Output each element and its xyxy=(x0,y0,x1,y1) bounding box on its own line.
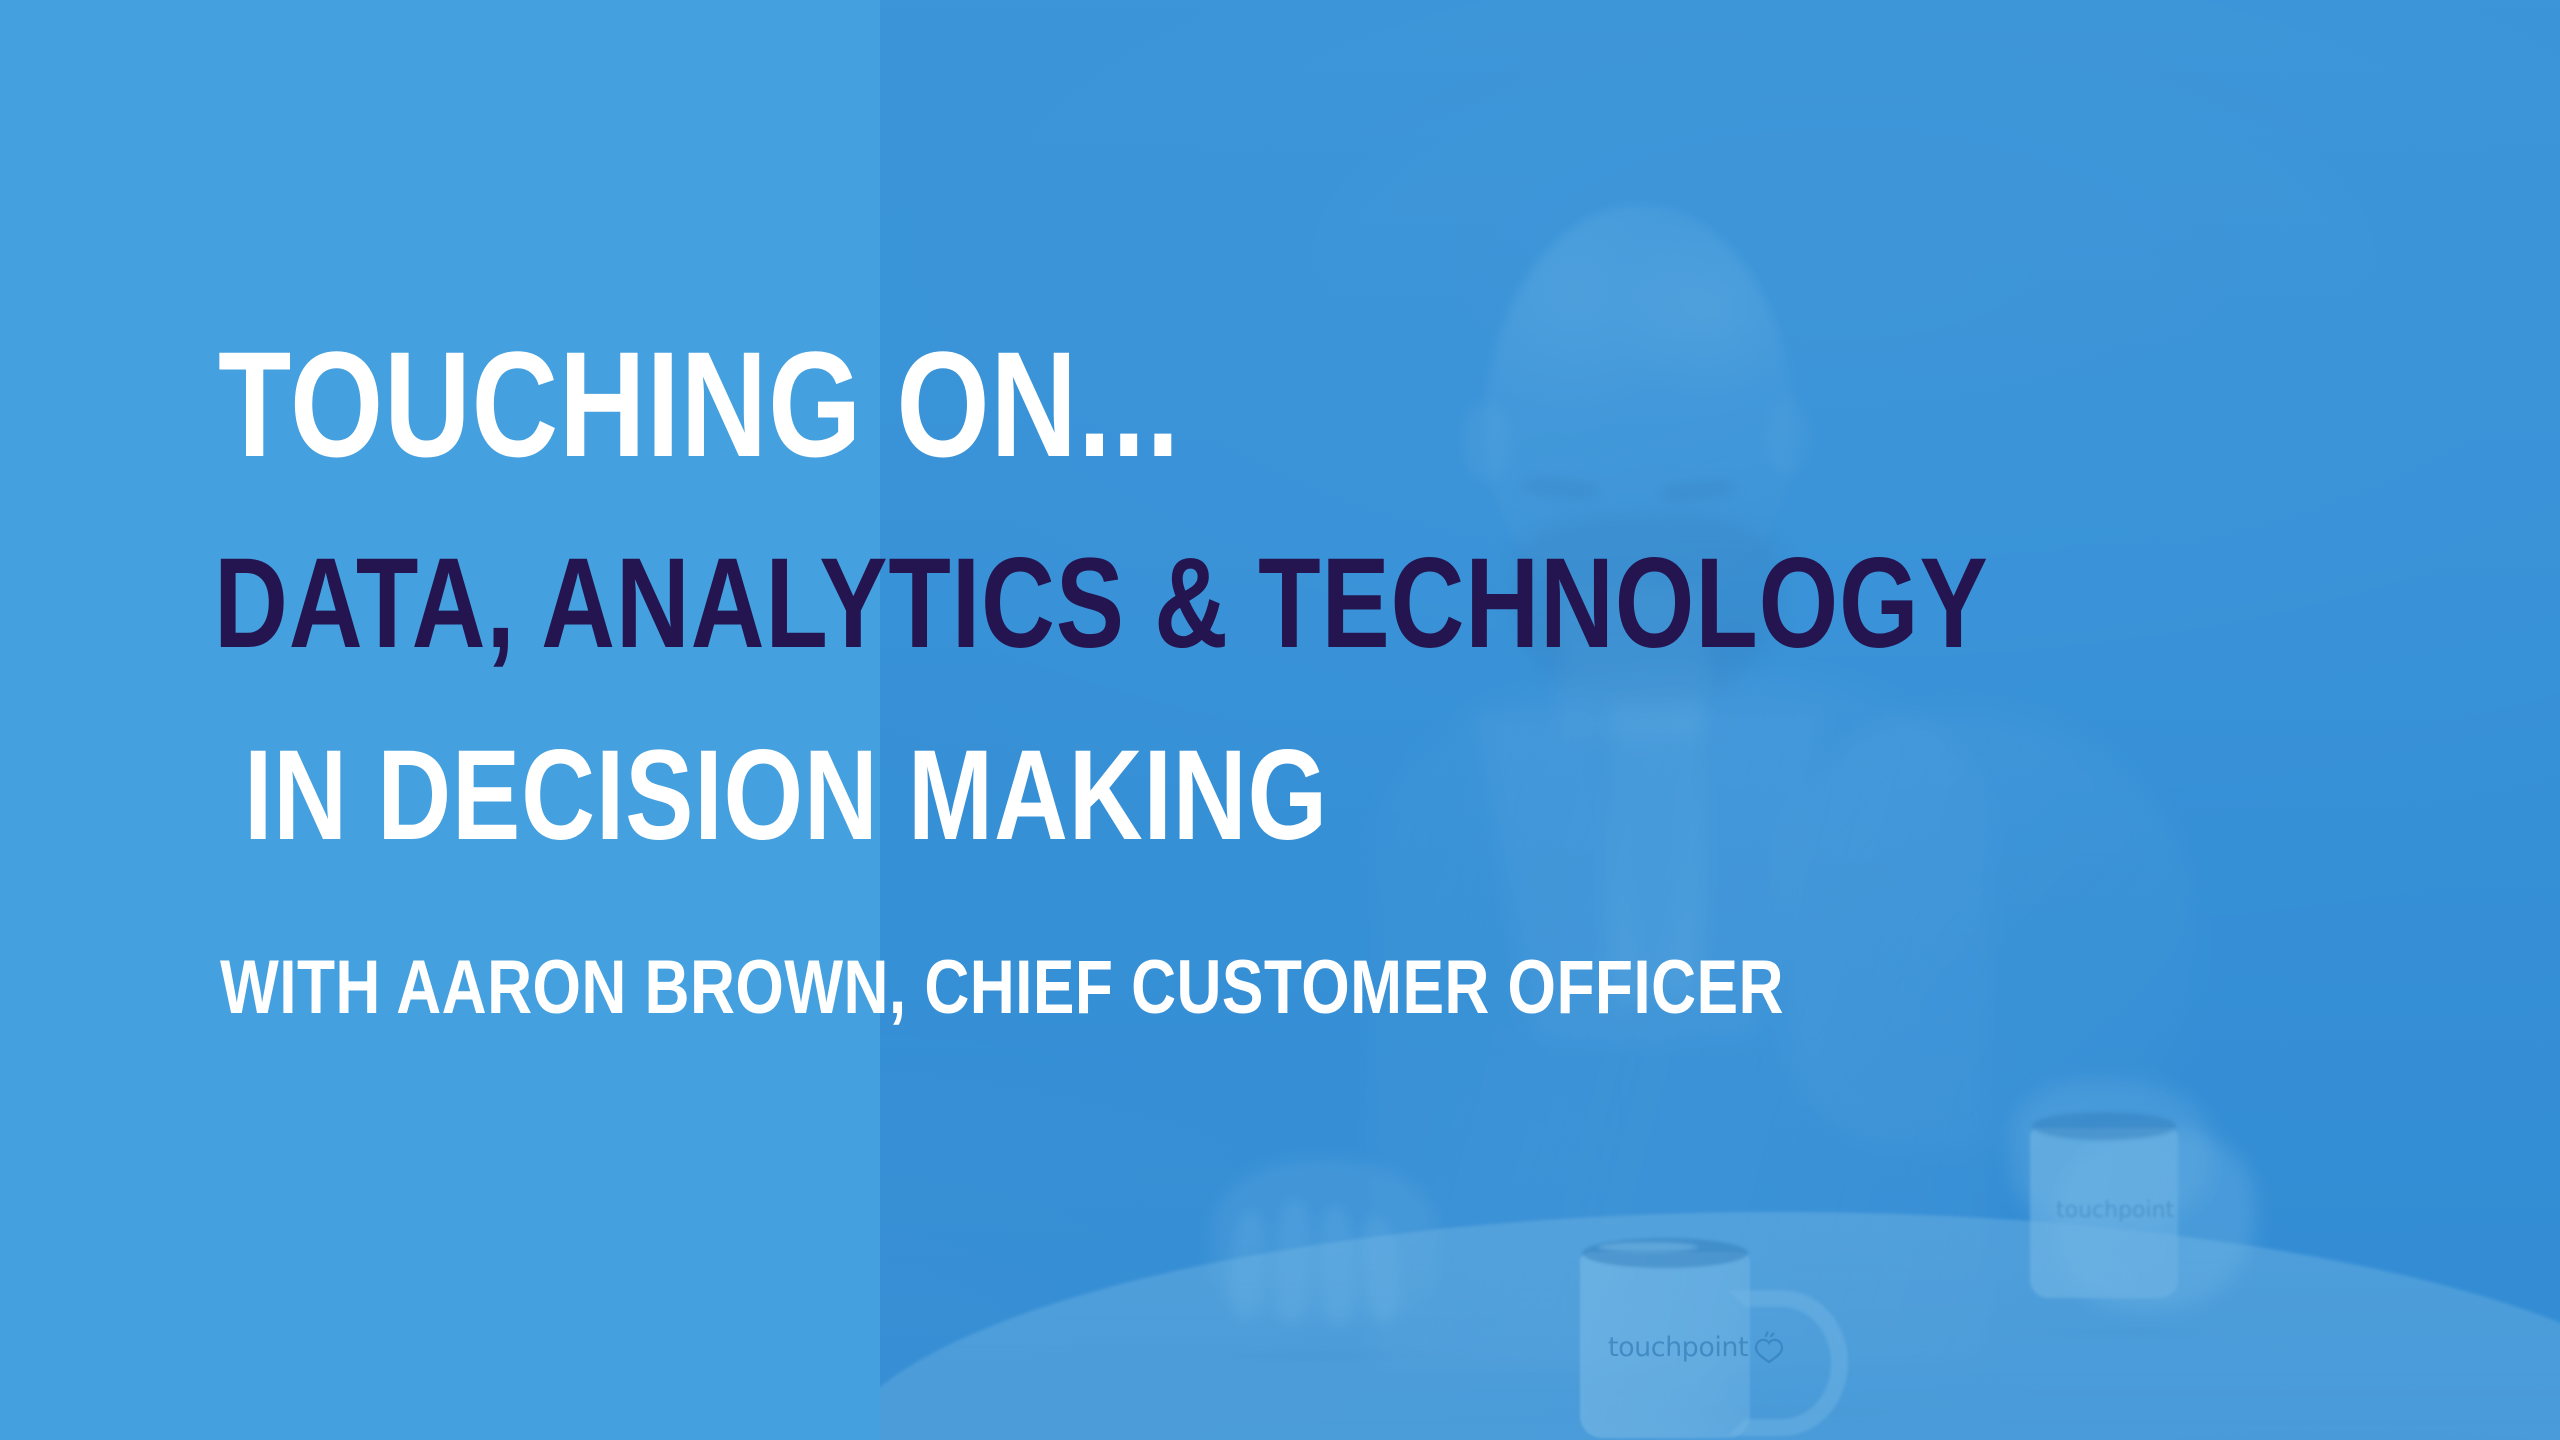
flat-blue-left-fill xyxy=(0,0,880,1440)
background-photo: touchpoint touchpoint xyxy=(0,0,2560,1440)
title-card-slide: touchpoint touchpoint TOUCHING ON... DAT… xyxy=(0,0,2560,1440)
